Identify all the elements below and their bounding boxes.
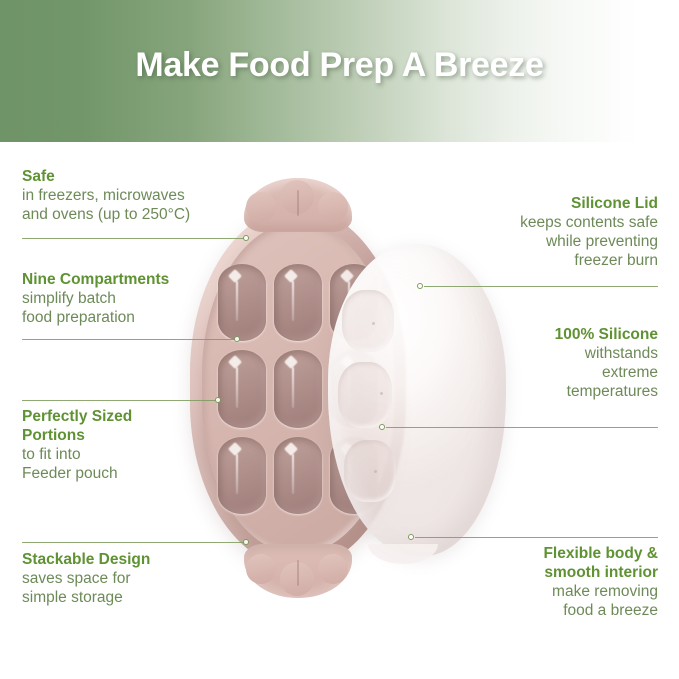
connector-rule-100-percent-silicone <box>386 427 658 428</box>
tab-bump <box>318 192 348 222</box>
callout-body: in freezers, microwaves and ovens (up to… <box>22 187 272 225</box>
callout-stackable-design: Stackable Design saves space for simple … <box>22 551 272 608</box>
connector-dot-stackable <box>243 539 249 545</box>
callout-silicone-lid: Silicone Lid keeps contents safe while p… <box>408 195 658 271</box>
lid-dot <box>372 322 375 325</box>
connector-rule-safe <box>22 238 246 239</box>
callout-body: to fit into Feeder pouch <box>22 446 272 484</box>
callout-title: 100% Silicone <box>408 326 658 345</box>
callout-body: withstands extreme temperatures <box>408 345 658 402</box>
callout-title: Stackable Design <box>22 551 272 570</box>
tab-groove <box>297 560 299 586</box>
connector-rule-stackable <box>22 542 246 543</box>
callout-flexible-body: Flexible body & smooth interior make rem… <box>408 545 658 621</box>
connector-dot-100-percent-silicone <box>379 424 385 430</box>
lid-blister <box>344 440 396 502</box>
callout-title: Nine Compartments <box>22 271 272 290</box>
callout-title: Flexible body & smooth interior <box>408 545 658 583</box>
connector-dot-silicone-lid <box>417 283 423 289</box>
compartment <box>274 264 322 341</box>
callout-body: simplify batch food preparation <box>22 290 272 328</box>
product-infographic: Make Food Prep A Breeze <box>0 0 679 679</box>
connector-dot-nine-compartments <box>234 336 240 342</box>
connector-dot-flexible-body <box>408 534 414 540</box>
tab-groove <box>297 190 299 216</box>
callout-title: Perfectly Sized Portions <box>22 408 272 446</box>
lid-blister <box>338 362 392 428</box>
callout-body: make removing food a breeze <box>408 583 658 621</box>
connector-rule-portions <box>22 400 218 401</box>
compartment <box>274 437 322 514</box>
connector-dot-safe <box>243 235 249 241</box>
callout-100-percent-silicone: 100% Silicone withstands extreme tempera… <box>408 326 658 402</box>
lid-dot <box>374 470 377 473</box>
connector-rule-silicone-lid <box>424 286 658 287</box>
callout-title: Silicone Lid <box>408 195 658 214</box>
callout-body: saves space for simple storage <box>22 570 272 608</box>
connector-dot-portions <box>215 397 221 403</box>
connector-rule-flexible-body <box>415 537 658 538</box>
compartment <box>274 350 322 427</box>
lid-dot <box>380 392 383 395</box>
page-title: Make Food Prep A Breeze <box>0 46 679 85</box>
lid-blister <box>342 290 394 352</box>
callout-body: keeps contents safe while preventing fre… <box>408 214 658 271</box>
callout-title: Safe <box>22 168 272 187</box>
callout-nine-compartments: Nine Compartments simplify batch food pr… <box>22 271 272 328</box>
tab-bump <box>318 554 348 584</box>
callout-safe: Safe in freezers, microwaves and ovens (… <box>22 168 272 225</box>
callout-perfectly-sized-portions: Perfectly Sized Portions to fit into Fee… <box>22 408 272 484</box>
connector-rule-nine-compartments <box>22 339 237 340</box>
